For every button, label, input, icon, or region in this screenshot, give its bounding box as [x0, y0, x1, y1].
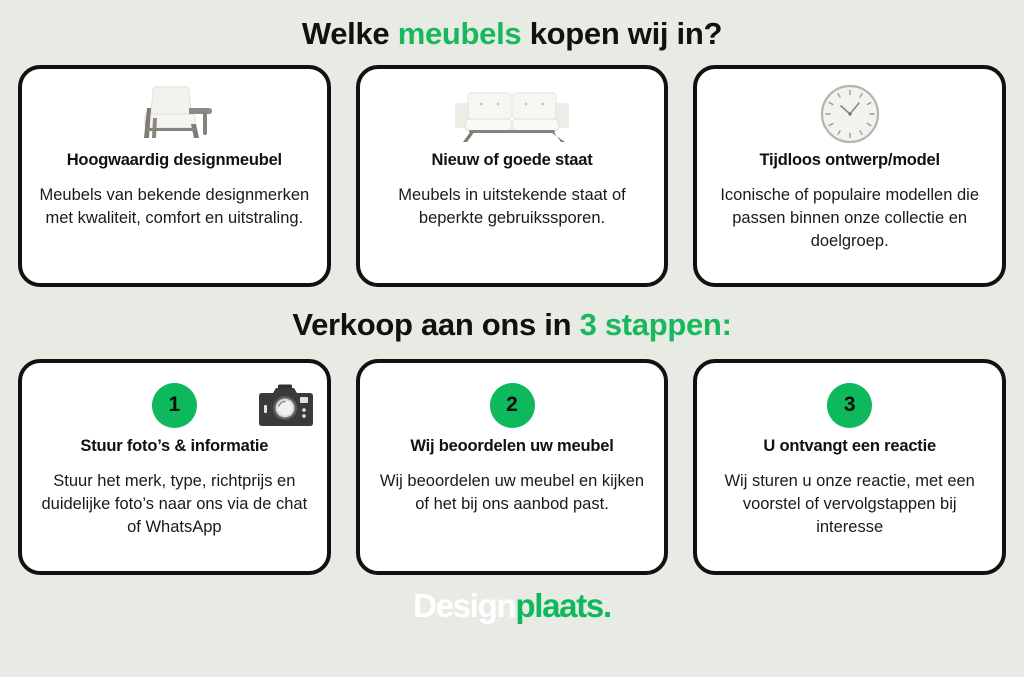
- wall-clock-icon: [713, 83, 986, 145]
- step-card-3: 3 U ontvangt een reactie Wij sturen u on…: [693, 359, 1006, 575]
- step-header: 1: [38, 377, 311, 433]
- step-card-1: 1 Stuur foto’s &: [18, 359, 331, 575]
- feature-card-row: Hoogwaardig designmeubel Meubels van bek…: [18, 65, 1006, 287]
- logo-part-design: Design: [413, 587, 515, 624]
- page-title-steps: Verkoop aan ons in 3 stappen:: [18, 309, 1006, 340]
- infographic-page: Welke meubels kopen wij in?: [0, 0, 1024, 677]
- armchair-icon: [38, 83, 311, 145]
- title-text-after: kopen wij in?: [521, 16, 722, 51]
- feature-card-tijdloos: Tijdloos ontwerp/model Iconische of popu…: [693, 65, 1006, 287]
- step-header: 2: [376, 377, 649, 433]
- feature-card-title: Nieuw of goede staat: [431, 151, 592, 170]
- steps-title-text-before: Verkoop aan ons in: [292, 307, 579, 342]
- sofa-icon: [376, 83, 649, 145]
- feature-card-title: Hoogwaardig designmeubel: [67, 151, 282, 170]
- step-card-title: Stuur foto’s & informatie: [80, 437, 268, 456]
- feature-card-body: Meubels van bekende designmerken met kwa…: [38, 184, 311, 230]
- feature-card-designmeubel: Hoogwaardig designmeubel Meubels van bek…: [18, 65, 331, 287]
- steps-title-text-accent: 3 stappen:: [580, 307, 732, 342]
- page-title-features: Welke meubels kopen wij in?: [18, 18, 1006, 49]
- feature-card-title: Tijdloos ontwerp/model: [759, 151, 939, 170]
- camera-icon: [256, 383, 316, 429]
- feature-card-staat: Nieuw of goede staat Meubels in uitsteke…: [356, 65, 669, 287]
- logo-part-plaats: plaats.: [515, 587, 610, 624]
- step-card-title: U ontvangt een reactie: [763, 437, 936, 456]
- step-number-badge: 2: [490, 383, 535, 428]
- step-header: 3: [713, 377, 986, 433]
- step-card-body: Stuur het merk, type, richtprijs en duid…: [38, 470, 311, 538]
- step-card-body: Wij sturen u onze reactie, met een voors…: [713, 470, 986, 538]
- step-card-body: Wij beoordelen uw meubel en kijken of he…: [376, 470, 649, 516]
- step-card-2: 2 Wij beoordelen uw meubel Wij beoordele…: [356, 359, 669, 575]
- title-text-before: Welke: [302, 16, 398, 51]
- step-number-badge: 1: [152, 383, 197, 428]
- step-card-title: Wij beoordelen uw meubel: [410, 437, 613, 456]
- feature-card-body: Iconische of populaire modellen die pass…: [713, 184, 986, 252]
- step-number-badge: 3: [827, 383, 872, 428]
- step-card-row: 1 Stuur foto’s &: [18, 359, 1006, 575]
- brand-logo: Designplaats.: [18, 589, 1006, 622]
- feature-card-body: Meubels in uitstekende staat of beperkte…: [376, 184, 649, 230]
- title-text-accent: meubels: [398, 16, 522, 51]
